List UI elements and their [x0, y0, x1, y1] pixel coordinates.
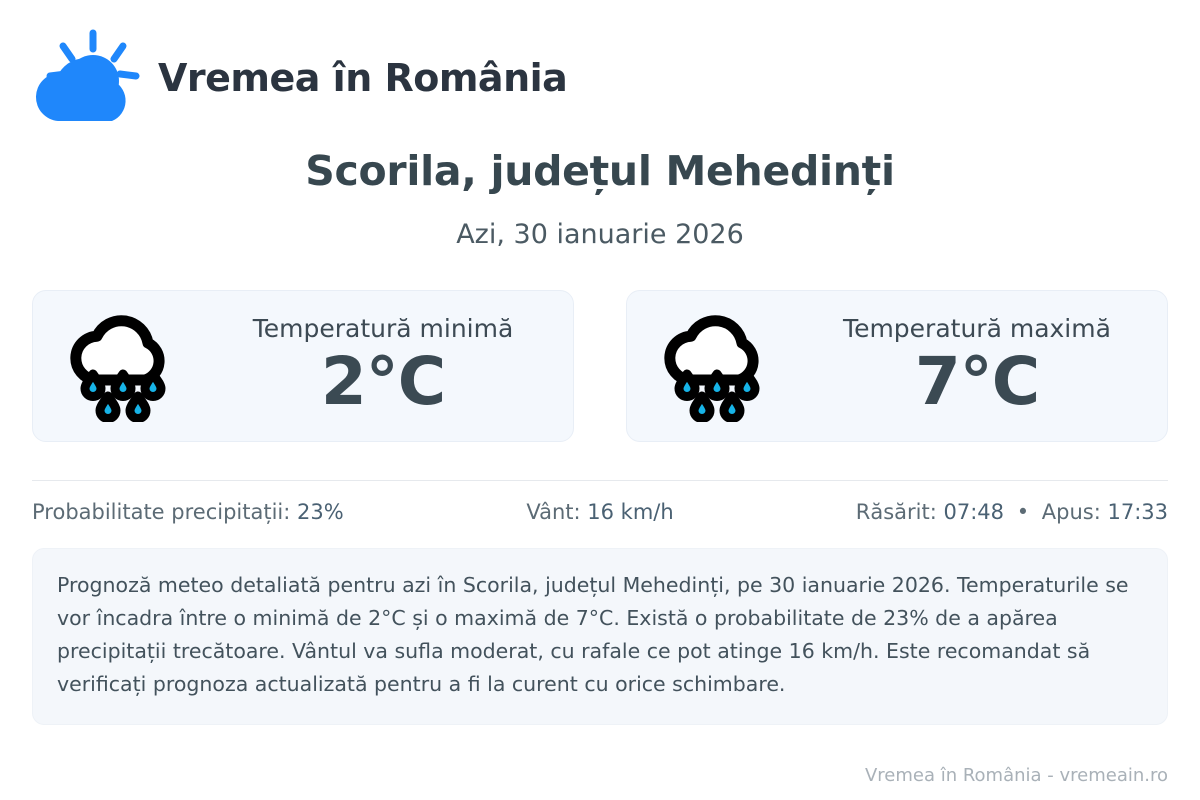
max-temperature-body: Temperatură maximă 7°C: [805, 314, 1149, 417]
precipitation-stat: Probabilitate precipitații: 23%: [32, 499, 411, 526]
max-temperature-label: Temperatură maximă: [843, 314, 1111, 344]
sunrise-value: 07:48: [943, 500, 1004, 524]
sunrise-label: Răsărit:: [856, 500, 937, 524]
wind-stat: Vânt: 16 km/h: [411, 499, 790, 526]
brand-name: Vremea în România: [158, 59, 567, 99]
sunset-label: Apus:: [1042, 500, 1101, 524]
precipitation-label: Probabilitate precipitații:: [32, 500, 290, 524]
max-temperature-card: Temperatură maximă 7°C: [626, 290, 1168, 442]
max-temperature-value: 7°C: [915, 346, 1039, 417]
weather-page: Vremea în România Scorila, județul Mehed…: [0, 0, 1200, 800]
page-title: Scorila, județul Mehedinți: [32, 148, 1168, 195]
page-subtitle: Azi, 30 ianuarie 2026: [32, 219, 1168, 251]
wind-value: 16 km/h: [587, 500, 673, 524]
sunset-value: 17:33: [1107, 500, 1168, 524]
min-temperature-value: 2°C: [321, 346, 445, 417]
section-divider: [32, 480, 1168, 481]
forecast-description: Prognoză meteo detaliată pentru azi în S…: [32, 548, 1168, 725]
min-temperature-label: Temperatură minimă: [253, 314, 514, 344]
footer-credit: Vremea în România - vremeain.ro: [865, 765, 1168, 786]
wind-label: Vânt:: [526, 500, 580, 524]
sun-times-stat: Răsărit: 07:48 • Apus: 17:33: [789, 499, 1168, 526]
rain-cloud-icon: [657, 310, 779, 422]
precipitation-value: 23%: [297, 500, 344, 524]
temperature-cards: Temperatură minimă 2°C Temperatură maxim…: [32, 290, 1168, 442]
min-temperature-card: Temperatură minimă 2°C: [32, 290, 574, 442]
title-block: Scorila, județul Mehedinți Azi, 30 ianua…: [32, 148, 1168, 252]
sun-times-separator: •: [1011, 500, 1035, 524]
weather-stats-row: Probabilitate precipitații: 23% Vânt: 16…: [32, 499, 1168, 526]
site-branding[interactable]: Vremea în România: [32, 0, 1168, 110]
sun-behind-cloud-icon: [32, 29, 140, 129]
rain-cloud-icon: [63, 310, 185, 422]
min-temperature-body: Temperatură minimă 2°C: [211, 314, 555, 417]
